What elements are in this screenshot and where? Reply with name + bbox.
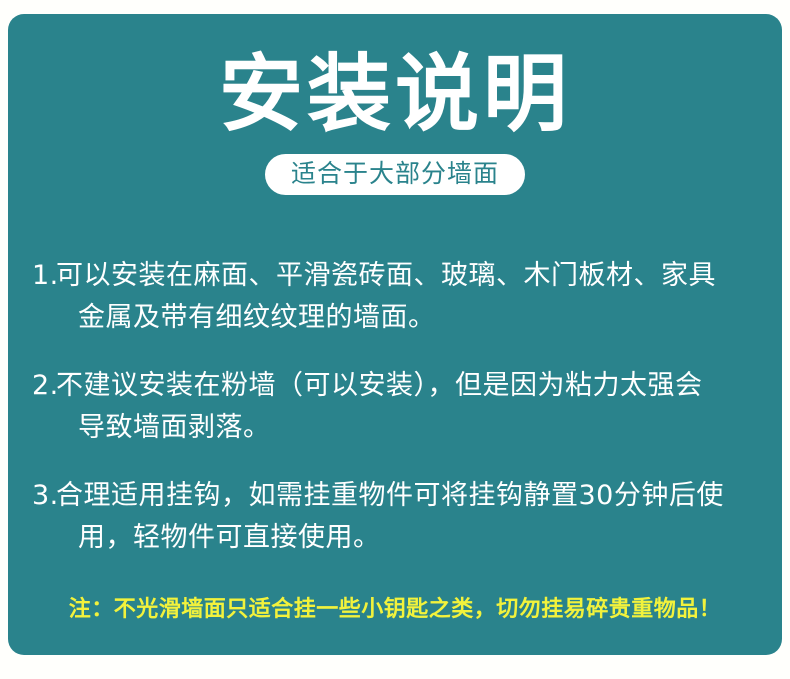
- list-item: 1. 可以安装在麻面、平滑瓷砖面、玻璃、木门板材、家具 金属及带有细纹纹理的墙面…: [32, 255, 774, 339]
- list-item-body: 不建议安装在粉墙（可以安装），但是因为粘力太强会 导致墙面剥落。: [56, 365, 774, 449]
- warning-note: 注：不光滑墙面只适合挂一些小钥匙之类，切勿挂易碎贵重物品！: [8, 595, 782, 625]
- list-item-line: 不建议安装在粉墙（可以安装），但是因为粘力太强会: [56, 365, 774, 407]
- card-header: 安装说明 适合于大部分墙面: [8, 14, 782, 195]
- instruction-list: 1. 可以安装在麻面、平滑瓷砖面、玻璃、木门板材、家具 金属及带有细纹纹理的墙面…: [32, 255, 774, 585]
- list-item-number: 2.: [32, 365, 56, 407]
- page-root: 安装说明 适合于大部分墙面 1. 可以安装在麻面、平滑瓷砖面、玻璃、木门板材、家…: [0, 0, 790, 679]
- list-item-line: 合理适用挂钩，如需挂重物件可将挂钩静置30分钟后使: [56, 475, 774, 517]
- list-item-line: 可以安装在麻面、平滑瓷砖面、玻璃、木门板材、家具: [56, 255, 774, 297]
- instruction-card: 安装说明 适合于大部分墙面 1. 可以安装在麻面、平滑瓷砖面、玻璃、木门板材、家…: [8, 14, 782, 655]
- list-item-number: 3.: [32, 475, 56, 517]
- list-item-line: 导致墙面剥落。: [56, 407, 774, 449]
- page-title: 安装说明: [8, 14, 782, 136]
- list-item-body: 可以安装在麻面、平滑瓷砖面、玻璃、木门板材、家具 金属及带有细纹纹理的墙面。: [56, 255, 774, 339]
- list-item: 3. 合理适用挂钩，如需挂重物件可将挂钩静置30分钟后使 用，轻物件可直接使用。: [32, 475, 774, 559]
- list-item: 2. 不建议安装在粉墙（可以安装），但是因为粘力太强会 导致墙面剥落。: [32, 365, 774, 449]
- list-item-body: 合理适用挂钩，如需挂重物件可将挂钩静置30分钟后使 用，轻物件可直接使用。: [56, 475, 774, 559]
- list-item-line: 用，轻物件可直接使用。: [56, 517, 774, 559]
- badge-container: 适合于大部分墙面: [8, 154, 782, 195]
- list-item-line: 金属及带有细纹纹理的墙面。: [56, 297, 774, 339]
- list-item-number: 1.: [32, 255, 56, 297]
- subtitle-badge: 适合于大部分墙面: [265, 154, 525, 195]
